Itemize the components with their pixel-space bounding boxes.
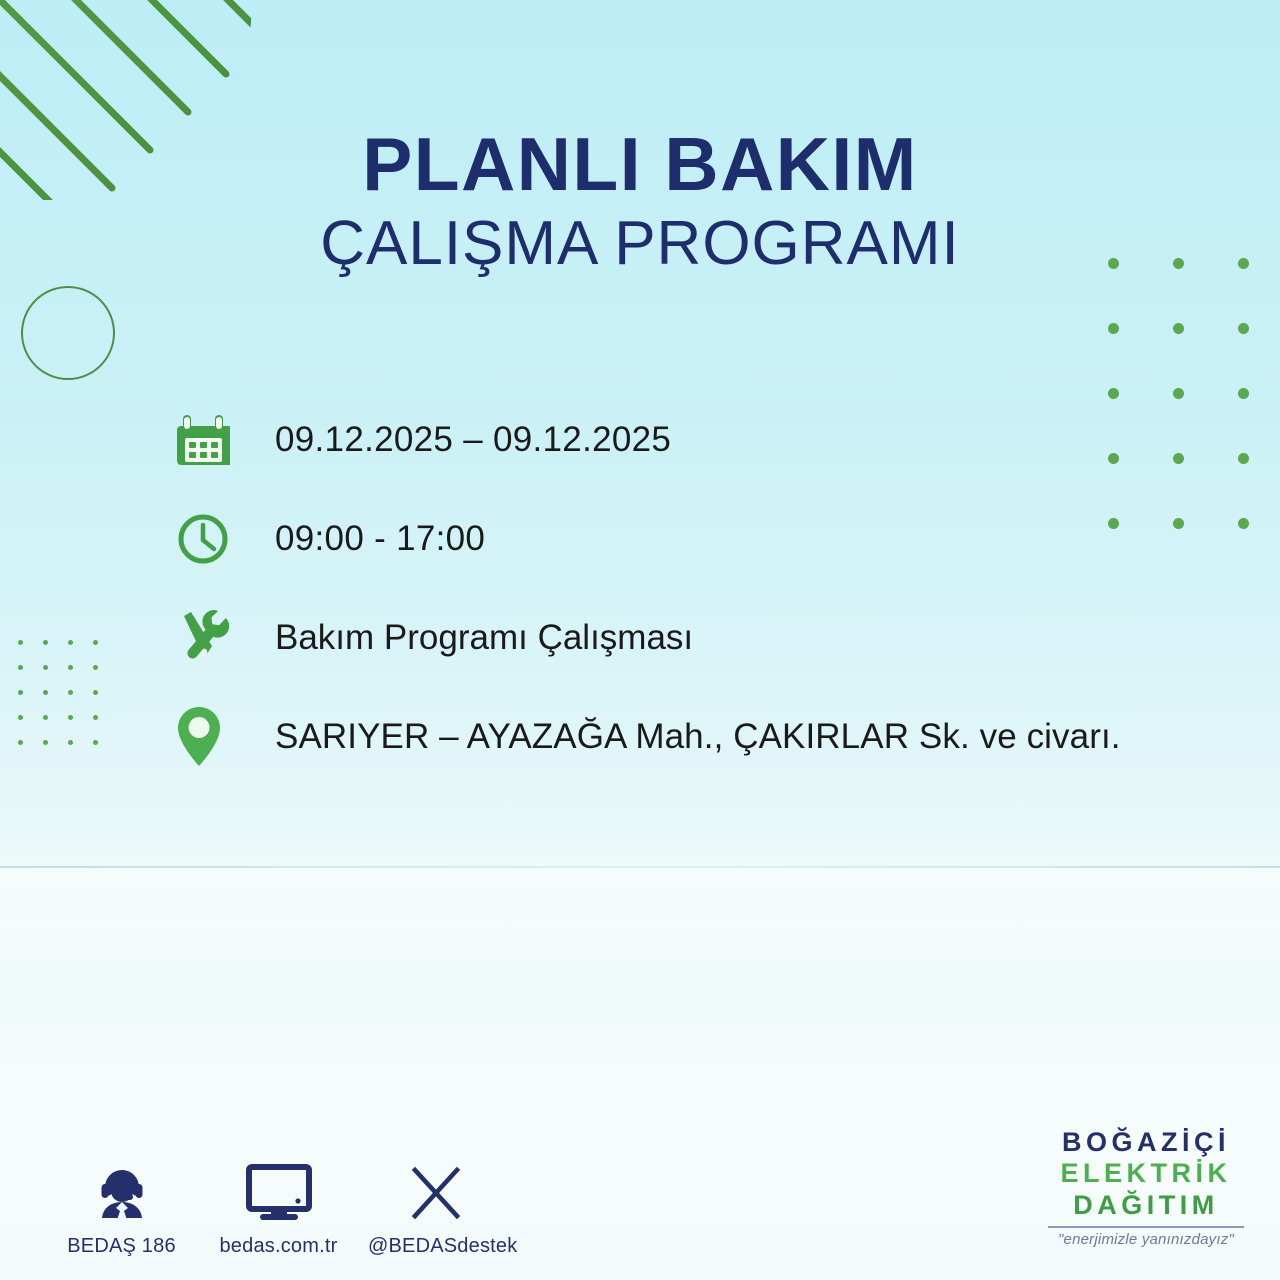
decorative-dot	[1108, 388, 1119, 399]
decorative-dot	[43, 690, 48, 695]
decorative-dot	[1238, 518, 1249, 529]
decorative-dot	[1108, 323, 1119, 334]
tools-icon	[176, 602, 242, 674]
contact-social-label: @BEDASdestek	[368, 1235, 503, 1258]
info-row-time-range: 09:00 - 17:00	[176, 503, 1236, 575]
brand-line-bogazici: BOĞAZİÇİ	[1036, 1127, 1256, 1158]
brand-line-elektrik: ELEKTRİK	[1036, 1158, 1256, 1189]
info-row-location: SARIYER – AYAZAĞA Mah., ÇAKIRLAR Sk. ve …	[176, 701, 1236, 773]
decorative-dot	[18, 740, 23, 745]
decorative-dot	[1173, 323, 1184, 334]
decorative-dot	[18, 665, 23, 670]
decorative-dot	[43, 740, 48, 745]
work-type-text: Bakım Programı Çalışması	[242, 617, 693, 659]
decorative-dot	[68, 740, 73, 745]
decorative-dot	[1173, 388, 1184, 399]
decorative-dot	[68, 640, 73, 645]
decorative-dot	[68, 690, 73, 695]
x-logo-icon	[368, 1148, 503, 1222]
horizontal-divider	[0, 866, 1280, 868]
footer-contact-bar: BEDAŞ 186 bedas.com.tr	[54, 1148, 503, 1258]
brand-line-dagitim: DAĞITIM	[1036, 1190, 1256, 1221]
background-band-lower	[0, 960, 1280, 1090]
planned-maintenance-poster: PLANLI BAKIM ÇALIŞMA PROGRAMI	[0, 0, 1280, 1280]
info-row-date-range: 09.12.2025 – 09.12.2025	[176, 404, 1236, 476]
decorative-dot	[43, 640, 48, 645]
decorative-dot	[1238, 323, 1249, 334]
monitor-icon	[211, 1148, 346, 1222]
maintenance-info-list: 09.12.2025 – 09.12.2025 09:00 - 17:00	[176, 404, 1236, 773]
decorative-dot	[1238, 388, 1249, 399]
decorative-dot	[93, 740, 98, 745]
info-row-work-type: Bakım Programı Çalışması	[176, 602, 1236, 674]
decorative-dot	[18, 715, 23, 720]
decorative-dot	[43, 715, 48, 720]
decorative-dot	[68, 715, 73, 720]
brand-tagline: "enerjimizle yanınızdayız"	[1036, 1231, 1256, 1248]
clock-icon	[176, 503, 242, 575]
headset-agent-icon	[54, 1148, 189, 1222]
decorative-dot	[18, 640, 23, 645]
dot-grid-left-decoration	[18, 640, 118, 750]
date-range-text: 09.12.2025 – 09.12.2025	[242, 419, 671, 461]
contact-website-label: bedas.com.tr	[211, 1235, 346, 1258]
background-band-upper	[0, 868, 1280, 988]
page-subtitle: ÇALIŞMA PROGRAMI	[0, 211, 1280, 276]
contact-website[interactable]: bedas.com.tr	[211, 1148, 346, 1258]
page-title-block: PLANLI BAKIM ÇALIŞMA PROGRAMI	[0, 126, 1280, 276]
decorative-dot	[93, 640, 98, 645]
decorative-dot	[93, 715, 98, 720]
contact-social[interactable]: @BEDASdestek	[368, 1148, 503, 1258]
decorative-dot	[43, 665, 48, 670]
contact-phone-label: BEDAŞ 186	[54, 1235, 189, 1258]
brand-logo: BOĞAZİÇİ ELEKTRİK DAĞITIM "enerjimizle y…	[1036, 1127, 1256, 1248]
circle-outline-decoration	[21, 286, 115, 380]
contact-phone[interactable]: BEDAŞ 186	[54, 1148, 189, 1258]
calendar-icon	[176, 404, 242, 476]
decorative-dot	[93, 665, 98, 670]
location-text: SARIYER – AYAZAĞA Mah., ÇAKIRLAR Sk. ve …	[242, 716, 1121, 758]
location-pin-icon	[176, 701, 242, 773]
brand-divider	[1048, 1226, 1244, 1228]
decorative-dot	[18, 690, 23, 695]
page-title: PLANLI BAKIM	[0, 126, 1280, 203]
decorative-dot	[68, 665, 73, 670]
decorative-dot	[1238, 453, 1249, 464]
decorative-dot	[93, 690, 98, 695]
time-range-text: 09:00 - 17:00	[242, 518, 485, 560]
